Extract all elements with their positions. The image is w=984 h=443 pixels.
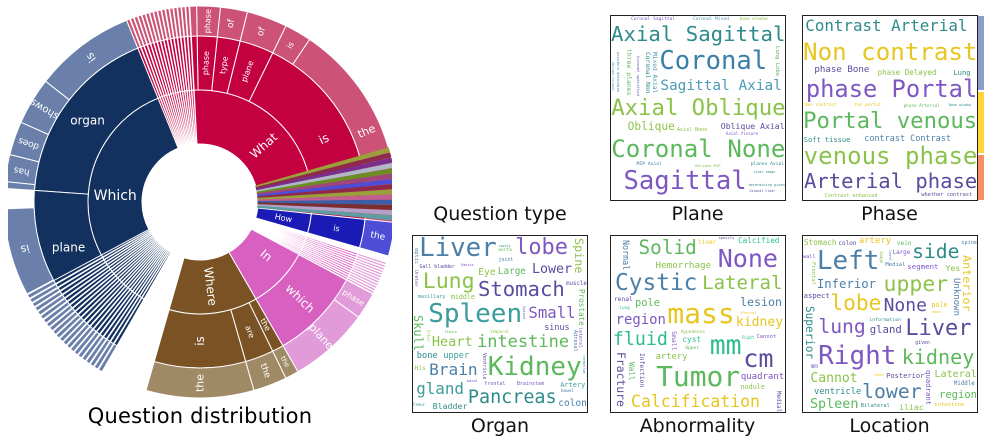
- wordcloud-word: phase Bone: [814, 66, 869, 75]
- phase-panel: Non contrastPortal venousvenous phasepha…: [795, 0, 984, 230]
- wordcloud-word: Large: [893, 251, 911, 257]
- wordcloud-word: Oblique MIP: [695, 164, 721, 168]
- sunburst-svg: WhatWhichWhereInHowisplanetypephaseorgan…: [8, 6, 392, 404]
- sunburst-panel: WhatWhichWhereInHowisplanetypephaseorgan…: [0, 0, 400, 443]
- wordcloud-word: Right: [818, 343, 896, 369]
- wordcloud-word: Calcification: [631, 394, 760, 410]
- wordcloud-word: aorta: [498, 249, 512, 254]
- wordcloud-word: vein: [897, 241, 912, 247]
- wordcloud-word: aspect: [804, 292, 830, 299]
- wordcloud-word: sinus: [544, 323, 569, 331]
- location-panel: LeftRightLiverupperlobekidneysidelowerlu…: [795, 225, 984, 443]
- wordcloud-word: gland: [416, 381, 464, 397]
- wordcloud-word: segment: [907, 263, 938, 270]
- wordcloud-word: Spleen: [810, 398, 858, 411]
- wordcloud-word: mm: [811, 365, 818, 371]
- wordcloud-word: Posterior: [886, 372, 924, 379]
- wordcloud-word: Small: [528, 305, 575, 321]
- wordcloud-word: basal: [467, 380, 478, 384]
- wordcloud-word: Artery: [560, 382, 585, 389]
- wordcloud-word: Sagittal: [624, 169, 747, 195]
- wordcloud-word: Medial: [885, 263, 905, 269]
- wordcloud-word: Large: [498, 267, 526, 276]
- wordcloud-plane-words: Axial ObliqueAxial SagittalCoronal NoneS…: [611, 16, 785, 200]
- wordcloud-word: Hypodense: [681, 331, 705, 335]
- wordcloud-word: Orbit: [426, 330, 430, 342]
- wordcloud-word: intestine: [934, 403, 964, 409]
- wordcloud-word: temporal: [490, 330, 509, 334]
- wordcloud-word: Mixed Axial: [651, 52, 657, 93]
- wordcloud-word: specify: [719, 237, 735, 241]
- wordcloud-word: Middle: [954, 382, 975, 388]
- wordcloud-word: Contrast Arterial: [805, 18, 967, 34]
- wordcloud-word: kidney: [736, 316, 783, 329]
- wordcloud-word: mm: [710, 333, 742, 359]
- location-caption: Location: [795, 415, 984, 437]
- phase-caption: Phase: [795, 203, 984, 225]
- wordcloud-word: Portal venous: [803, 110, 977, 132]
- wordcloud-phase[interactable]: Non contrastPortal venousvenous phasepha…: [802, 15, 978, 201]
- wordcloud-word: Superior: [804, 306, 815, 359]
- wordcloud-word: cyst: [682, 336, 701, 344]
- wordcloud-word: Cerebellum: [582, 355, 585, 373]
- abnormality-panel: massTumormmNonecmCysticLateralCalcificat…: [600, 225, 795, 443]
- wordcloud-word: possible determine: [616, 52, 620, 92]
- wordcloud-word: Kidney: [488, 354, 582, 380]
- wordcloud-word: Cannot: [756, 335, 776, 340]
- wordcloud-word: Prostate: [577, 289, 585, 326]
- wordcloud-word: Spinal: [522, 306, 526, 320]
- sunburst-segment-label: phase: [201, 51, 211, 76]
- sunburst-segment-label: is: [193, 336, 207, 346]
- wordcloud-word: level: [888, 250, 892, 261]
- organ-caption: Organ: [400, 415, 600, 437]
- wordcloud-word: mass: [667, 300, 734, 328]
- wordcloud-word: Brain: [429, 362, 478, 378]
- wordcloud-word: Lateral: [702, 274, 782, 293]
- sunburst-segment[interactable]: [312, 201, 366, 204]
- wordcloud-word: Spleen: [428, 301, 522, 327]
- wordcloud-word: upper: [443, 352, 469, 361]
- wordcloud-word: Calcified: [738, 237, 779, 245]
- wordcloud-word: nodule: [741, 384, 765, 391]
- wordcloud-word: Yes portal: [855, 104, 882, 108]
- wordcloud-word: quadrant: [741, 373, 784, 382]
- wordcloud-word: whether contrast: [921, 193, 972, 198]
- abnormality-caption: Abnormality: [600, 415, 795, 437]
- wordcloud-word: information: [869, 319, 901, 324]
- wordcloud-word: Arterial phase: [804, 171, 977, 192]
- wordcloud-word: Coronal Non: [644, 52, 650, 94]
- wordcloud-word: Oblique Axial: [721, 122, 785, 130]
- wordcloud-word: Lung Lobe: [773, 46, 779, 76]
- wordcloud-word: region: [616, 314, 666, 328]
- wordcloud-word: Axial Sagittal: [611, 24, 785, 45]
- wordcloud-word: Cannot: [810, 372, 857, 385]
- wordcloud-word: Small: [671, 331, 678, 351]
- wordcloud-word: Brainstem: [517, 382, 544, 387]
- wordcloud-word: venous phase: [804, 144, 978, 168]
- question-type-panel: Abnormality 35% Plane 19% Organ 19% Loca…: [400, 0, 600, 230]
- wordcloud-word: Adrenal: [572, 330, 577, 352]
- wordcloud-word: cm: [743, 346, 773, 371]
- wordcloud-word: Oblique: [628, 121, 675, 132]
- wordcloud-word: pole: [931, 302, 947, 309]
- wordcloud-word: iliac: [899, 403, 924, 411]
- wordcloud-word: Solid: [639, 238, 697, 257]
- wordcloud-word: Upper: [685, 347, 699, 352]
- sunburst-segment[interactable]: [366, 205, 392, 209]
- wordcloud-word: Fibula: [445, 331, 457, 334]
- wordcloud-word: pole: [635, 298, 660, 308]
- wordcloud-word: Contrast enhanced: [825, 194, 878, 199]
- sunburst-caption: Question distribution: [0, 404, 400, 428]
- wordcloud-word: Yes: [945, 264, 960, 272]
- wordcloud-word: phase Portal: [806, 78, 977, 102]
- wordcloud-word: Frontal: [810, 262, 815, 285]
- wordcloud-word: renal: [614, 297, 633, 303]
- wordcloud-word: ventricle: [814, 388, 861, 397]
- wordcloud-word: image: [879, 251, 883, 263]
- wordcloud-word: Axial Oblique: [611, 97, 785, 119]
- wordcloud-word: colon: [838, 241, 856, 247]
- treemap-caption: Question type: [400, 203, 600, 225]
- wordcloud-word: contrast Contrast: [864, 134, 951, 142]
- wordcloud-word: joint: [498, 258, 513, 263]
- wordcloud-word: renal: [874, 374, 885, 378]
- organ-panel: KidneySpleenLiverlobeStomachLungPancreas…: [400, 225, 600, 443]
- wordcloud-word: bowel: [561, 390, 574, 394]
- wordcloud-word: lobe: [830, 292, 881, 313]
- wordcloud-organ[interactable]: KidneySpleenLiverlobeStomachLungPancreas…: [412, 235, 588, 413]
- wordcloud-organ-words: KidneySpleenLiverlobeStomachLungPancreas…: [413, 236, 587, 412]
- wordcloud-phase-words: Non contrastPortal venousvenous phasepha…: [803, 16, 977, 200]
- wordcloud-abnormality-words: massTumormmNonecmCysticLateralCalcificat…: [611, 236, 785, 412]
- wordcloud-word: Cystic: [615, 272, 697, 295]
- wordcloud-plane[interactable]: Axial ObliqueAxial SagittalCoronal NoneS…: [610, 15, 786, 201]
- wordcloud-word: Eye: [478, 268, 495, 278]
- wordcloud-word: Anterior: [961, 255, 973, 312]
- wordcloud-word: artery: [859, 237, 891, 246]
- wordcloud-word: Medial: [774, 391, 780, 412]
- wordcloud-word: bone: [417, 352, 438, 361]
- wordcloud-word: Lateral: [935, 370, 977, 380]
- wordcloud-word: Spine: [572, 238, 584, 273]
- wordcloud-word: Wall: [628, 362, 636, 381]
- wordcloud-word: Bone window: [949, 104, 971, 107]
- sunburst-segment[interactable]: [366, 200, 392, 204]
- wordcloud-word: mass: [932, 311, 941, 315]
- wordcloud-word: Pleural: [741, 311, 757, 315]
- wordcloud-word: determining given: [749, 184, 785, 188]
- wordcloud-word: phase Delayed: [878, 69, 937, 77]
- wordcloud-word: lung: [818, 317, 865, 337]
- wordcloud-word: clear image: [754, 171, 775, 174]
- wordcloud-word: Liver: [905, 318, 971, 340]
- sunburst-segment-label: organ: [70, 113, 105, 127]
- wordcloud-word: gland: [870, 325, 902, 336]
- wordcloud-word: Coronal Sagittal: [631, 18, 675, 23]
- wordcloud-location-words: LeftRightLiverupperlobekidneysidelowerlu…: [803, 236, 977, 412]
- wordcloud-word: Oblique Coronal: [611, 62, 614, 91]
- wordcloud-word: colon: [558, 399, 587, 409]
- wordcloud-word: Tumor: [656, 363, 740, 391]
- sunburst-chart: WhatWhichWhereInHowisplanetypephaseorgan…: [8, 6, 392, 404]
- wordcloud-word: Inferior: [817, 278, 876, 290]
- wordcloud-word: intestine: [477, 334, 569, 351]
- wordcloud-word: Stomach: [804, 239, 837, 247]
- wordcloud-word: wall: [803, 255, 816, 260]
- plane-caption: Plane: [600, 203, 795, 225]
- wordcloud-location[interactable]: LeftRightLiverupperlobekidneysidelowerlu…: [802, 235, 978, 413]
- wordcloud-word: side: [912, 242, 959, 262]
- wordcloud-word: Sagittal Axial: [660, 79, 782, 93]
- sunburst-segment[interactable]: [366, 195, 392, 199]
- wordcloud-word: Coronal specified: [636, 56, 640, 96]
- wordcloud-word: Lung: [423, 271, 475, 293]
- wordcloud-word: Bilateral: [861, 404, 890, 409]
- sunburst-segment-label: the: [194, 374, 207, 392]
- wordcloud-word: Coronal Mixed: [693, 18, 729, 23]
- wordcloud-word: spine: [961, 241, 977, 246]
- wordcloud-word: Liver: [419, 236, 497, 262]
- wordcloud-word: muscle: [566, 282, 587, 288]
- wordcloud-word: Pancreas: [468, 389, 557, 407]
- wordcloud-word: Coronal clear: [750, 190, 776, 193]
- wordcloud-word: Skull: [412, 315, 424, 351]
- wordcloud-word: Coronal None: [611, 137, 785, 161]
- wordcloud-word: Left: [817, 248, 880, 274]
- wordcloud-word: bone window: [740, 17, 768, 21]
- wordcloud-word: Infection: [638, 353, 644, 387]
- wordcloud-word: His: [415, 366, 426, 372]
- wordcloud-word: frontal: [484, 382, 505, 387]
- wordcloud-word: Fracture: [615, 352, 626, 407]
- wordcloud-word: Stomach: [478, 279, 565, 300]
- wordcloud-word: Lower: [532, 263, 572, 276]
- wordcloud-word: Ventricle: [481, 353, 486, 379]
- wordcloud-word: planes Axial: [751, 163, 784, 168]
- wordcloud-word: lobe: [515, 237, 568, 259]
- wordcloud-word: None: [884, 297, 927, 315]
- wordcloud-word: liver: [698, 240, 716, 246]
- wordcloud-word: Bladder: [433, 402, 468, 410]
- wordcloud-abnormality[interactable]: massTumormmNonecmCysticLateralCalcificat…: [610, 235, 786, 413]
- wordcloud-word: Coronal: [659, 49, 767, 75]
- wordcloud-word: region: [939, 390, 977, 401]
- wordcloud-word: upper: [884, 274, 949, 296]
- wordcloud-word: Lung: [953, 69, 970, 76]
- plane-panel: Axial ObliqueAxial SagittalCoronal NoneS…: [600, 0, 795, 230]
- wordcloud-word: Non contrast: [805, 104, 837, 108]
- wordcloud-word: middle: [451, 294, 475, 301]
- wordcloud-word: Hemorrhage: [656, 261, 712, 270]
- wordcloud-word: lesion: [740, 297, 782, 309]
- wordcloud-word: lower: [862, 382, 922, 402]
- wordcloud-word: Ureter: [413, 270, 418, 287]
- sunburst-segment-label: plane: [52, 240, 85, 254]
- wordcloud-word: quadrant: [924, 370, 931, 405]
- wordcloud-word: maxillary: [418, 295, 446, 300]
- wordcloud-word: Gall bladder: [420, 265, 455, 270]
- wordcloud-word: artery: [656, 353, 688, 362]
- wordcloud-word: Normal: [622, 240, 630, 270]
- wordcloud-word: Axial None: [677, 128, 707, 133]
- wordcloud-word: fluid: [613, 331, 668, 349]
- wordcloud-word: optic: [413, 248, 418, 264]
- wordcloud-word: lung: [619, 307, 629, 311]
- wordcloud-word: MIP Axial: [637, 163, 662, 168]
- wordcloud-word: Heart: [432, 336, 473, 350]
- sunburst-segment-label: phase: [203, 9, 213, 34]
- wordcloud-word: Femur: [413, 403, 425, 407]
- wordcloud-word: Unknown: [951, 278, 960, 316]
- wordcloud-word: Radius: [461, 264, 473, 267]
- wordcloud-word: phase Arterial: [904, 105, 940, 109]
- wordcloud-word: Axial fissure: [726, 132, 758, 136]
- wordcloud-word: kidney: [902, 347, 975, 367]
- wordcloud-word: Soft tissue: [804, 136, 851, 143]
- sunburst-segment-label: Which: [94, 188, 137, 204]
- figure-root: WhatWhichWhereInHowisplanetypephaseorgan…: [0, 0, 984, 443]
- wordcloud-word: Non contrast: [803, 40, 977, 64]
- wordcloud-word: Right: [742, 336, 754, 340]
- wordcloud-word: three planes: [625, 49, 631, 96]
- wordcloud-word: None: [718, 246, 778, 271]
- wordcloud-word: given: [915, 341, 930, 346]
- wordcloud-word: lateral: [578, 327, 583, 348]
